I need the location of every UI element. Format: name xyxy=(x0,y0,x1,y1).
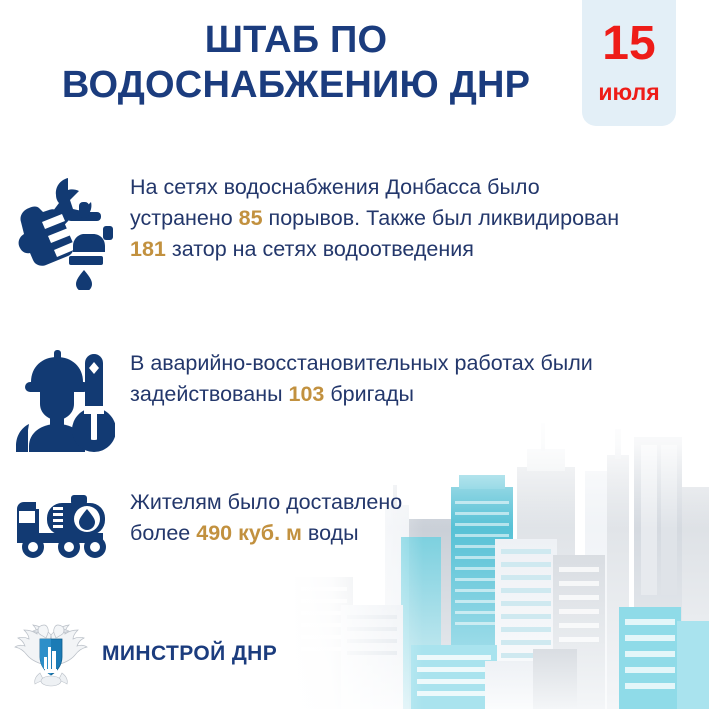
stat-row-2-text: В аварийно-восстановительных работах был… xyxy=(130,348,650,410)
row2-part-3: бригады xyxy=(324,382,414,406)
title-line-1: ШТАБ ПО xyxy=(205,19,388,61)
stat-row-water-delivered: Жителям было доставлено более 490 куб. м… xyxy=(0,487,410,561)
footer-label: МИНСТРОЙ ДНР xyxy=(102,642,277,666)
title-line-2: ВОДОСНАБЖЕНИЮ ДНР xyxy=(18,63,574,108)
worker-wrench-icon xyxy=(0,348,130,452)
stat-row-crews: В аварийно-восстановительных работах был… xyxy=(0,348,650,452)
row1-value-breaks: 85 xyxy=(239,206,263,230)
page-title: ШТАБ ПО ВОДОСНАБЖЕНИЮ ДНР xyxy=(18,18,574,108)
row3-value-volume: 490 куб. м xyxy=(196,521,302,545)
water-tanker-truck-icon xyxy=(0,487,130,561)
row3-part-3: воды xyxy=(302,521,359,545)
poster-header: ШТАБ ПО ВОДОСНАБЖЕНИЮ ДНР 15 июля xyxy=(0,0,709,150)
row2-value-crews: 103 xyxy=(289,382,325,406)
date-day: 15 xyxy=(582,20,676,68)
stat-row-water-network: На сетях водоснабжения Донбасса было уст… xyxy=(0,172,630,290)
row1-part-5: затор на сетях водоотведения xyxy=(166,237,474,261)
dnr-double-headed-eagle-emblem-icon xyxy=(14,617,88,691)
stat-row-1-text: На сетях водоснабжения Донбасса было уст… xyxy=(130,172,630,265)
row1-part-3: порывов. Также был ликвидирован xyxy=(263,206,620,230)
date-month: июля xyxy=(582,79,676,105)
row1-value-blockages: 181 xyxy=(130,237,166,261)
footer: МИНСТРОЙ ДНР xyxy=(14,617,277,691)
stat-row-3-text: Жителям было доставлено более 490 куб. м… xyxy=(130,487,410,549)
date-badge: 15 июля xyxy=(582,0,676,126)
infographic-poster: ШТАБ ПО ВОДОСНАБЖЕНИЮ ДНР 15 июля xyxy=(0,0,709,709)
hand-wrench-faucet-icon xyxy=(0,172,130,290)
